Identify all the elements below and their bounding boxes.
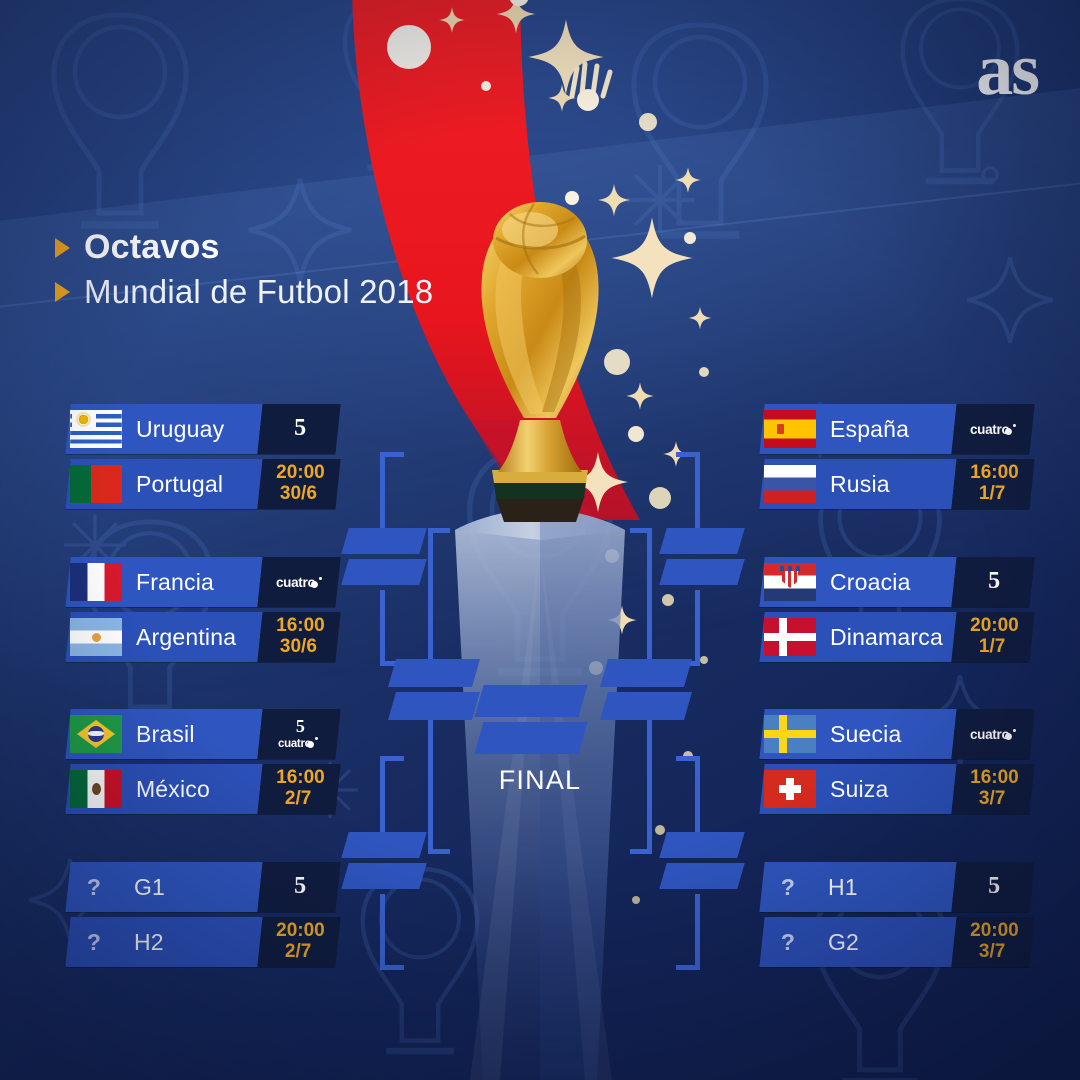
match-3[interactable]: Brasil5cuatroMéxico16:002/7 [68,709,338,814]
team-row[interactable]: ?H220:002/7 [68,917,338,967]
team-band[interactable]: ?G1 [65,862,262,912]
empty-slot-bar [659,559,744,585]
channel-logo-cuatro: cuatro [970,422,1016,437]
triangle-bullet-icon [55,282,70,302]
connector-left-sf-bottom-arm [428,849,450,854]
match-5[interactable]: EspañacuatroRusia16:001/7 [762,404,1032,509]
team-row[interactable]: Sueciacuatro [762,709,1032,759]
connector-right-qf1-top-arm [676,452,700,457]
as-logo[interactable]: as [976,36,1038,104]
team-band[interactable]: Rusia [759,459,956,509]
match-date: 3/7 [979,942,1005,963]
connector-left-qf2-top [380,756,385,832]
connector-left-qf2-bottom [380,894,385,970]
team-row[interactable]: Portugal20:0030/6 [68,459,338,509]
team-name: H1 [828,874,858,901]
page-title: Octavos [84,228,220,267]
team-row[interactable]: Uruguay5 [68,404,338,454]
team-band[interactable]: ?H1 [759,862,956,912]
connector-left-qf1-top [380,452,385,528]
channel-logo-cuatro: cuatro [278,737,318,750]
match-time: 20:00 [970,921,1019,942]
connector-right-qf2-top-arm [676,756,700,761]
triangle-bullet-icon [55,238,70,258]
argentina-flag [70,618,122,656]
empty-slot-bar [659,832,744,858]
team-row[interactable]: Argentina16:0030/6 [68,612,338,662]
connector-left-sf-bottom [428,716,433,854]
team-band[interactable]: Portugal [65,459,262,509]
empty-slot-bar [600,692,692,720]
team-band[interactable]: Argentina [65,612,262,662]
team-row[interactable]: México16:002/7 [68,764,338,814]
team-row[interactable]: Rusia16:001/7 [762,459,1032,509]
channel-logo-cuatro: cuatro [276,575,322,590]
connector-left-qf2-top-arm [380,756,404,761]
match-time: 16:00 [970,463,1019,484]
connector-left-sf-top [428,528,433,660]
empty-slot-bar [474,685,587,717]
team-name: Portugal [136,471,223,498]
connector-left-qf2-bottom-arm [380,965,404,970]
unknown-team-icon: ? [68,929,120,956]
espana-flag [764,410,816,448]
team-band[interactable]: ?G2 [759,917,956,967]
connector-right-sf-bottom [647,716,652,854]
connector-right-qf2-bottom [695,894,700,970]
team-band[interactable]: Dinamarca [759,612,956,662]
connector-right-sf-top-arm [630,528,652,533]
team-band[interactable]: Francia [65,557,262,607]
team-band[interactable]: Brasil [65,709,262,759]
team-row[interactable]: Suiza16:003/7 [762,764,1032,814]
kickoff-slot: 20:002/7 [257,917,340,967]
match-7[interactable]: SueciacuatroSuiza16:003/7 [762,709,1032,814]
quarterfinal-slot-right-1 [663,528,741,585]
match-date: 1/7 [979,637,1005,658]
semifinal-slot-right [604,659,688,720]
team-band[interactable]: Suiza [759,764,956,814]
match-time: 16:00 [276,616,325,637]
team-name: Croacia [830,569,911,596]
uruguay-flag [70,410,122,448]
connector-right-qf1-top [695,452,700,528]
team-name: Argentina [136,624,236,651]
team-row[interactable]: ?G15 [68,862,338,912]
unknown-team-icon: ? [762,874,814,901]
channel-logo-cuatro: cuatro [970,727,1016,742]
quarterfinal-slot-left-2 [345,832,423,889]
match-date: 2/7 [285,789,311,810]
unknown-team-icon: ? [68,874,120,901]
match-time: 16:00 [276,768,325,789]
connector-left-qf1-top-arm [380,452,404,457]
team-name: Suiza [830,776,889,803]
kickoff-slot: 20:0030/6 [257,459,340,509]
suiza-flag [764,770,816,808]
unknown-team-icon: ? [762,929,814,956]
quarterfinal-slot-left-1 [345,528,423,585]
channel-slot[interactable]: 5 [951,557,1034,607]
kickoff-slot: 20:003/7 [951,917,1034,967]
team-name: Suecia [830,721,902,748]
team-band[interactable]: Croacia [759,557,956,607]
team-band[interactable]: México [65,764,262,814]
empty-slot-bar [341,528,426,554]
empty-slot-bar [659,863,744,889]
team-name: Dinamarca [830,624,943,651]
match-time: 20:00 [276,921,325,942]
connector-right-sf-bottom-arm [630,849,652,854]
team-band[interactable]: Uruguay [65,404,262,454]
dinamarca-flag [764,618,816,656]
channel-logo-telecinco: 5 [988,874,999,898]
connector-left-sf-top-arm [428,528,450,533]
team-row[interactable]: Dinamarca20:001/7 [762,612,1032,662]
team-row[interactable]: Brasil5cuatro [68,709,338,759]
connector-right-qf1-bottom [695,590,700,666]
channel-slot[interactable]: cuatro [257,557,340,607]
team-row[interactable]: Españacuatro [762,404,1032,454]
channel-logo-telecinco: 5 [294,874,305,898]
team-name: Brasil [136,721,195,748]
team-name: Francia [136,569,214,596]
empty-slot-bar [341,559,426,585]
team-band[interactable]: ?H2 [65,917,262,967]
kickoff-slot: 16:0030/6 [257,612,340,662]
team-name: Rusia [830,471,890,498]
channel-slot[interactable]: cuatro [951,709,1034,759]
kickoff-slot: 16:002/7 [257,764,340,814]
connector-right-qf2-bottom-arm [676,965,700,970]
quarterfinal-slot-right-2 [663,832,741,889]
match-6[interactable]: Croacia5Dinamarca20:001/7 [762,557,1032,662]
match-date: 2/7 [285,942,311,963]
match-time: 20:00 [970,616,1019,637]
brasil-flag [70,715,122,753]
empty-slot-bar [388,692,480,720]
team-name: G2 [828,929,859,956]
match-date: 30/6 [279,484,316,505]
match-4[interactable]: ?G15?H220:002/7 [68,862,338,967]
match-8[interactable]: ?H15?G220:003/7 [762,862,1032,967]
connector-right-sf-top [647,528,652,660]
team-band[interactable]: Suecia [759,709,956,759]
empty-slot-bar [388,659,480,687]
match-1[interactable]: Uruguay5Portugal20:0030/6 [68,404,338,509]
suecia-flag [764,715,816,753]
channel-slot[interactable]: 5cuatro [257,709,340,759]
headline-primary-row: Octavos [55,228,433,267]
team-name: H2 [134,929,164,956]
match-date: 3/7 [979,789,1005,810]
kickoff-slot: 20:001/7 [951,612,1034,662]
page-subtitle: Mundial de Futbol 2018 [84,273,433,311]
kickoff-slot: 16:001/7 [951,459,1034,509]
final-label: FINAL [440,765,640,796]
empty-slot-bar [341,832,426,858]
croacia-flag [764,563,816,601]
francia-flag [70,563,122,601]
kickoff-slot: 16:003/7 [951,764,1034,814]
channel-logo-telecinco: 5 [296,717,304,735]
connector-right-qf2-top [695,756,700,832]
rusia-flag [764,465,816,503]
team-name: España [830,416,909,443]
match-date: 30/6 [279,637,316,658]
empty-slot-bar [474,722,587,754]
channel-logo-telecinco: 5 [294,416,305,440]
channel-slot[interactable]: cuatro [951,404,1034,454]
team-name: México [136,776,210,803]
team-row[interactable]: ?H15 [762,862,1032,912]
channel-slot[interactable]: 5 [257,404,340,454]
bracket-infographic: FINAL as Octavos Mundial de Futbol 2018 … [0,0,1080,1080]
connector-left-qf1-bottom [380,590,385,666]
empty-slot-bar [600,659,692,687]
portugal-flag [70,465,122,503]
channel-slot[interactable]: 5 [951,862,1034,912]
headline-block: Octavos Mundial de Futbol 2018 [55,228,433,317]
headline-secondary-row: Mundial de Futbol 2018 [55,273,433,311]
semifinal-slot-left [392,659,476,720]
channel-logo-telecinco: 5 [988,569,999,593]
final-slot [479,685,583,754]
team-band[interactable]: España [759,404,956,454]
match-time: 16:00 [970,768,1019,789]
team-name: G1 [134,874,165,901]
team-row[interactable]: Franciacuatro [68,557,338,607]
channel-slot[interactable]: 5 [257,862,340,912]
mexico-flag [70,770,122,808]
empty-slot-bar [341,863,426,889]
match-2[interactable]: FranciacuatroArgentina16:0030/6 [68,557,338,662]
match-date: 1/7 [979,484,1005,505]
match-time: 20:00 [276,463,325,484]
team-name: Uruguay [136,416,224,443]
team-row[interactable]: Croacia5 [762,557,1032,607]
empty-slot-bar [659,528,744,554]
team-row[interactable]: ?G220:003/7 [762,917,1032,967]
